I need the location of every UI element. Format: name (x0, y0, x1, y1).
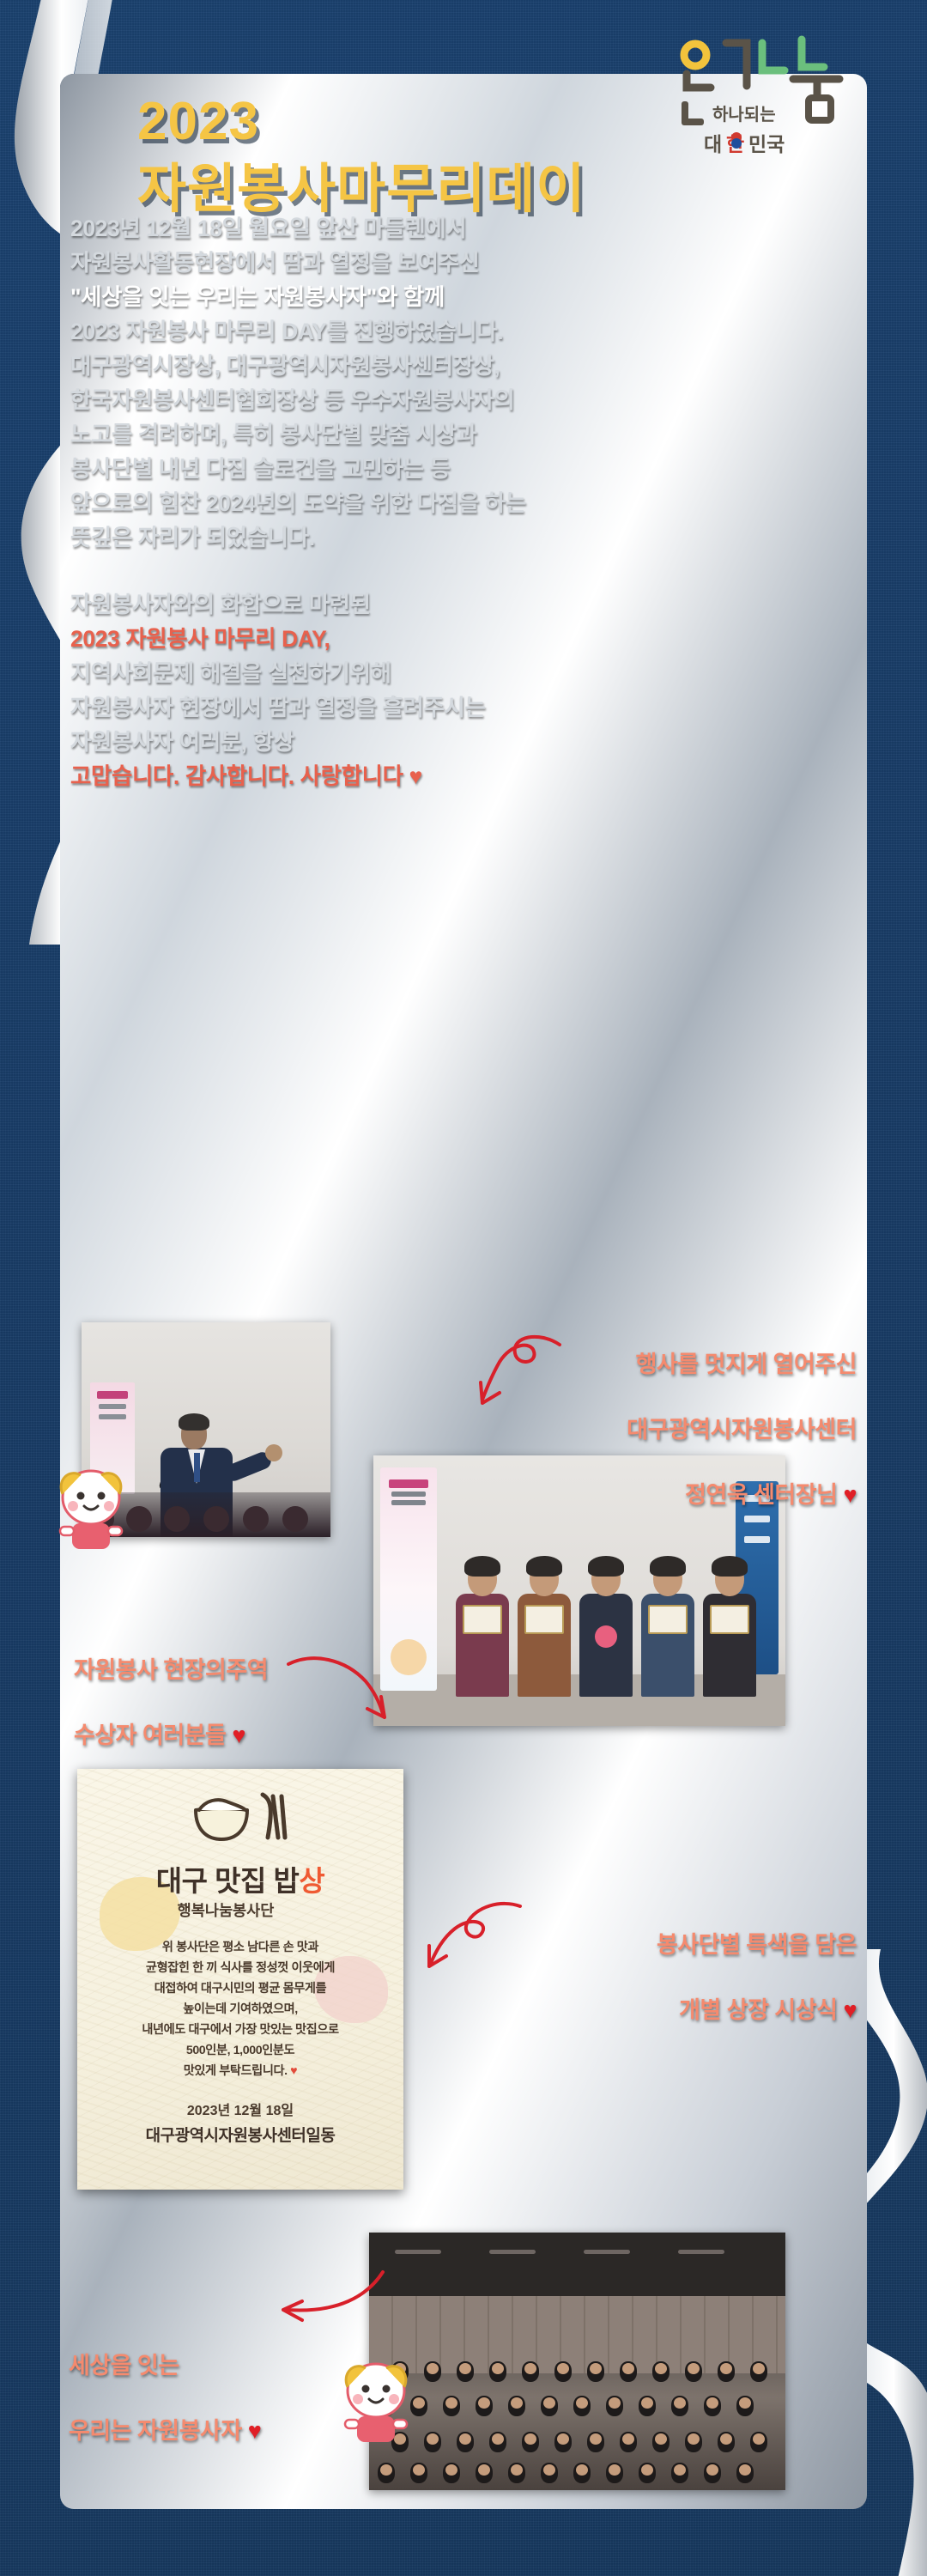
caption-4-line-2-text: 우리는 자원봉사자 (69, 2418, 242, 2444)
photo1-audience-head (203, 1506, 229, 1532)
caption-1-line-3: 정연욱 센터장님 ♥ (627, 1479, 857, 1511)
caption-custom-awards: 봉사단별 특색을 담은 개별 상장 시상식 ♥ (657, 1896, 857, 2059)
caption-1-line-1: 행사를 멋지게 열어주신 (627, 1348, 857, 1381)
photo1-speaker-tie (194, 1453, 200, 1482)
heart-icon: ♥ (409, 763, 422, 789)
caption-4-line-2: 우리는 자원봉사자 ♥ (69, 2415, 261, 2447)
photo-certificate: 대구 맛집 밥상 행복나눔봉사단 위 봉사단은 평소 남다른 손 맛과 균형잡힌… (77, 1769, 403, 2190)
caption-center-director: 행사를 멋지게 열어주신 대구광역시자원봉사센터 정연욱 센터장님 ♥ (627, 1315, 857, 1544)
photo2-left-banner (380, 1467, 437, 1691)
certificate-team-name: 행복나눔봉사단 (77, 1899, 403, 1921)
photo1-speaker-hair (179, 1413, 209, 1431)
photo2-head (591, 1562, 621, 1596)
caption-1-line-3-text: 정연욱 센터장님 (685, 1482, 837, 1508)
photo2-certificate (463, 1605, 502, 1634)
thanks-line-3: 지역사회문제 해결을 실천하기위해 (70, 656, 826, 690)
desc-line-9: 앞으로의 힘찬 2024년의 도약을 위한 다짐을 하는 (70, 486, 826, 520)
event-description: 2023년 12월 18일 월요일 앞산 마들렌에서 자원봉사활동현장에서 땀과… (70, 211, 826, 793)
cert-body-line-7: 맛있게 부탁드립니다. ♥ (93, 2061, 388, 2081)
caption-2-line-2-text: 수상자 여러분들 (74, 1722, 226, 1748)
photo2-recipient (703, 1562, 756, 1697)
photo2-center-director (579, 1562, 633, 1697)
heart-icon: ♥ (248, 2418, 262, 2444)
photo1-speaker-hand (265, 1444, 282, 1461)
certificate-title-suffix: 상 (299, 1865, 324, 1897)
photo-group-shot (369, 2233, 785, 2490)
certificate-body: 위 봉사단은 평소 남다른 손 맛과 균형잡힌 한 끼 식사를 정성껏 이웃에게… (93, 1937, 388, 2081)
thanks-line-1: 자원봉사자와의 화합으로 마련된 (70, 587, 826, 622)
thanks-line-4: 자원봉사자 현장에서 땀과 열정을 흘려주시는 (70, 690, 826, 725)
caption-2-line-2: 수상자 여러분들 ♥ (74, 1719, 268, 1752)
desc-line-7: 노고를 격려하며, 특히 봉사단별 맞춤 시상과 (70, 417, 826, 452)
thanks-text: 고맙습니다. 감사합니다. 사랑합니다 (70, 763, 403, 789)
page-title: 2023 자원봉사마무리데이 (137, 90, 790, 221)
cert-body-line-7-text: 맛있게 부탁드립니다. (184, 2064, 288, 2078)
photo2-recipient (518, 1562, 571, 1697)
desc-line-10: 뜻깊은 자리가 되었습니다. (70, 520, 826, 555)
caption-3-line-2-text: 개별 상장 시상식 (679, 1997, 837, 2023)
photo2-head (715, 1562, 744, 1596)
desc-line-6: 한국자원봉사센터협회장상 등 우수자원봉사자의 (70, 383, 826, 417)
caption-2-line-1: 자원봉사 현장의주역 (74, 1654, 268, 1686)
caption-3-line-2: 개별 상장 시상식 ♥ (657, 1994, 857, 2026)
certificate-title-prefix: 대구 맛집 밥 (156, 1865, 300, 1897)
photo1-audience-head (243, 1506, 269, 1532)
paragraph-spacer (70, 555, 826, 587)
thanks-line-2: 2023 자원봉사 마무리 DAY, (70, 622, 826, 656)
cert-body-line-6: 500인분, 1,000인분도 (93, 2040, 388, 2061)
caption-4-line-1: 세상을 잇는 (69, 2349, 261, 2382)
certificate-organization: 대구광역시자원봉사센터일동 (77, 2123, 403, 2146)
photo2-certificate (648, 1605, 688, 1634)
rice-bowl-chopsticks-icon (189, 1788, 292, 1844)
caption-1-line-2: 대구광역시자원봉사센터 (627, 1413, 857, 1446)
thanks-line-6: 고맙습니다. 감사합니다. 사랑합니다 ♥ (70, 759, 826, 793)
desc-line-4: 2023 자원봉사 마무리 DAY를 진행하였습니다. (70, 314, 826, 349)
photo1-audience-head (282, 1506, 308, 1532)
desc-line-8: 봉사단별 내년 다짐 슬로건을 고민하는 등 (70, 452, 826, 486)
cert-body-line-1: 위 봉사단은 평소 남다른 손 맛과 (93, 1937, 388, 1958)
title-year: 2023 (137, 90, 790, 153)
cert-body-line-5: 내년에도 대구에서 가장 맛있는 맛집으로 (93, 2020, 388, 2040)
desc-line-5: 대구광역시장상, 대구광역시자원봉사센터장상, (70, 349, 826, 383)
desc-line-2: 자원봉사활동현장에서 땀과 열정을 보여주신 (70, 246, 826, 280)
heart-icon: ♥ (290, 2064, 297, 2078)
caption-award-winners: 자원봉사 현장의주역 수상자 여러분들 ♥ (74, 1621, 268, 1784)
photo2-recipient (641, 1562, 694, 1697)
heart-icon: ♥ (843, 1997, 857, 2023)
poster-canvas: 하나되는 대 한 민국 2023 자원봉사마무리데이 2023년 12월 18일… (0, 0, 927, 2576)
certificate-title: 대구 맛집 밥상 (77, 1858, 403, 1899)
photo2-certificate (710, 1605, 749, 1634)
thanks-line-5: 자원봉사자 여러분, 항상 (70, 725, 826, 759)
heart-icon: ♥ (232, 1722, 245, 1748)
photo2-certificate (524, 1605, 564, 1634)
desc-line-3: "세상을 잇는 우리는 자원봉사자"와 함께 (70, 280, 826, 314)
volunteer-mascot-icon (336, 2353, 415, 2447)
certificate-date: 2023년 12월 18일 (77, 2099, 403, 2119)
photo2-flower-bouquet (595, 1625, 617, 1648)
photo2-head (530, 1562, 559, 1596)
desc-line-1: 2023년 12월 18일 월요일 앞산 마들렌에서 (70, 211, 826, 246)
photo2-head (468, 1562, 497, 1596)
cert-body-line-4: 높이는데 기여하였으며, (93, 1999, 388, 2020)
photo1-audience-head (164, 1506, 190, 1532)
photo4-ceiling (369, 2233, 785, 2296)
cert-body-line-3: 대접하여 대구시민의 평균 몸무게를 (93, 1978, 388, 1999)
caption-slogan: 세상을 잇는 우리는 자원봉사자 ♥ (69, 2317, 261, 2480)
heart-icon: ♥ (843, 1482, 857, 1508)
volunteer-mascot-icon (51, 1460, 130, 1554)
cert-body-line-2: 균형잡힌 한 끼 식사를 정성껏 이웃에게 (93, 1958, 388, 1978)
photo2-recipient (456, 1562, 509, 1697)
photo2-head (653, 1562, 682, 1596)
caption-3-line-1: 봉사단별 특색을 담은 (657, 1929, 857, 1961)
